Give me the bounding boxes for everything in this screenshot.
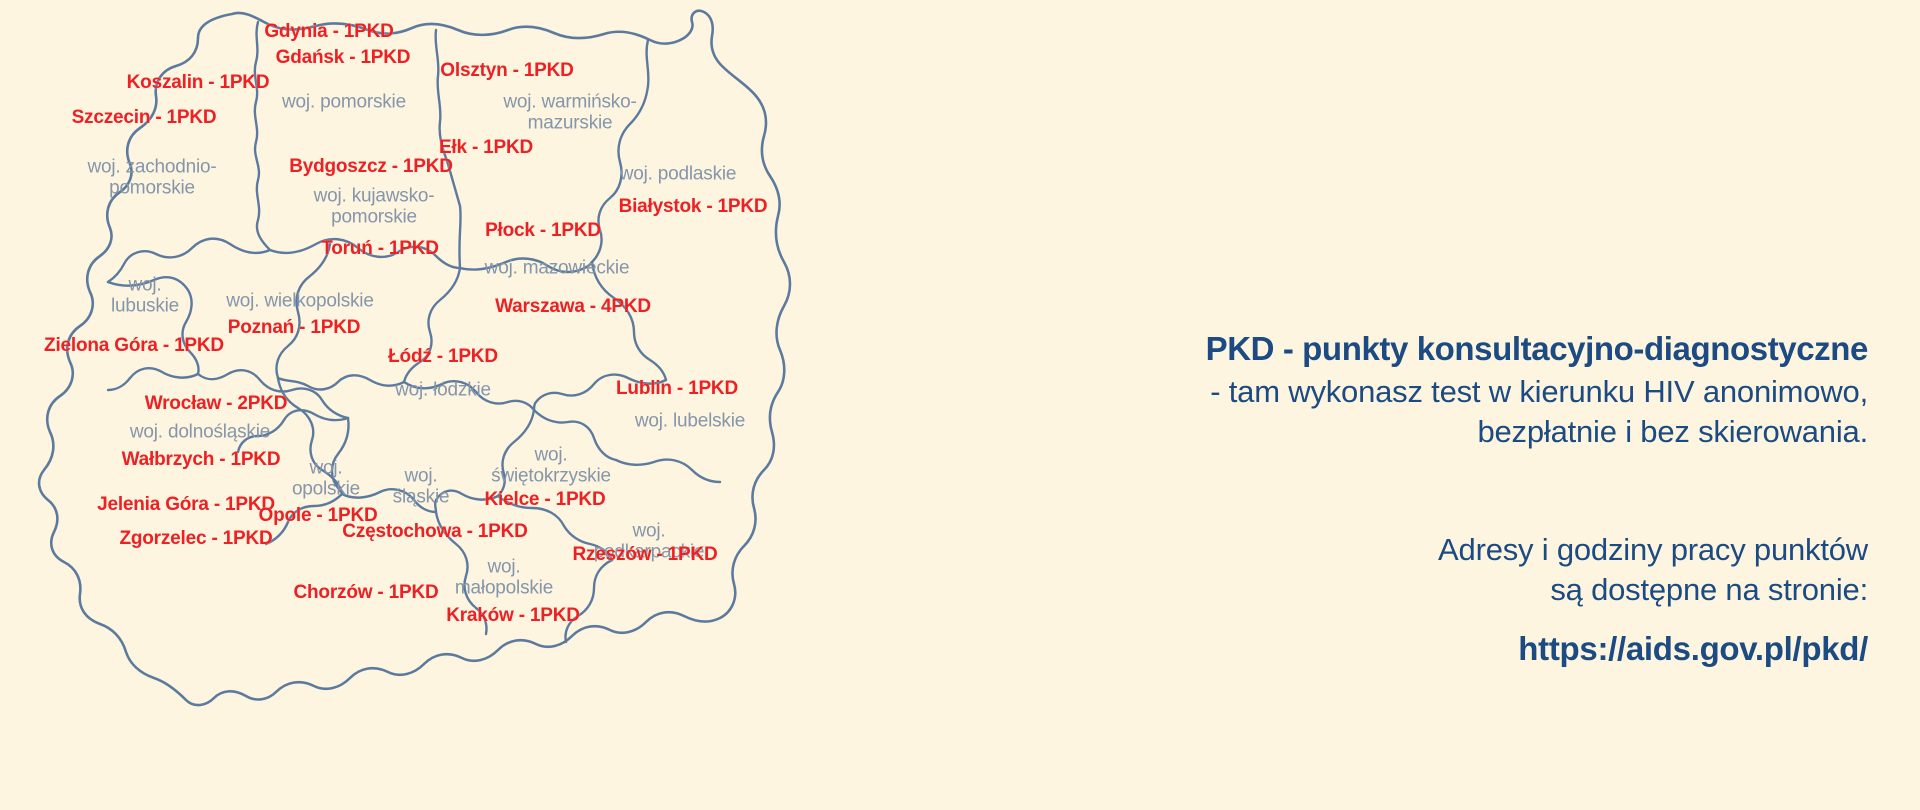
poster-canvas: woj. zachodnio-pomorskiewoj. pomorskiewo… <box>0 0 1920 810</box>
border-lubelskie-podkarpackie <box>616 460 720 482</box>
border-warminsko-podlaskie <box>592 40 648 262</box>
border-pomorskie-south <box>270 239 460 268</box>
border-opolskie-south <box>266 494 342 544</box>
website-url-link[interactable]: https://aids.gov.pl/pkd/ <box>1518 630 1868 668</box>
border-kujawsko-mazowieckie <box>404 268 460 382</box>
border-slaskie-malopolskie <box>436 512 487 634</box>
border-mazowieckie-lubelskie <box>534 375 666 410</box>
border-warminsko-mazowieckie <box>460 259 592 272</box>
border-zachodniopomorskie-pomorskie <box>255 22 270 250</box>
subtitle-block: - tam wykonasz test w kierunku HIV anoni… <box>1210 372 1868 453</box>
border-lodzkie-mazowieckie <box>404 381 534 410</box>
address-info-block: Adresy i godziny pracy punktów są dostęp… <box>1438 530 1868 611</box>
border-swietokrzyskie-west <box>435 491 498 512</box>
border-lodzkie-swietokrzyskie <box>498 410 534 496</box>
poland-map-svg <box>0 0 1000 810</box>
poland-map: woj. zachodnio-pomorskiewoj. pomorskiewo… <box>0 0 1000 810</box>
border-wielkopolskie-south <box>198 370 348 418</box>
info-text-panel: PKD - punkty konsultacyjno-diagnostyczne… <box>1000 0 1920 810</box>
border-malopolskie-podkarpackie <box>566 560 613 642</box>
subtitle-line-1: - tam wykonasz test w kierunku HIV anoni… <box>1210 372 1868 412</box>
border-wielkopolskie-lubuskie <box>108 277 199 374</box>
address-line-2: są dostępne na stronie: <box>1438 570 1868 610</box>
border-podlaskie-mazowieckie <box>592 262 666 380</box>
border-opolskie-dolnoslaskie <box>238 410 348 452</box>
border-lubuskie-dolnoslaskie <box>108 368 198 390</box>
border-kujawsko-wielkopolskie <box>276 244 330 378</box>
border-zachodniopomorskie-south <box>108 239 270 282</box>
border-pomorskie-warminsko <box>436 30 461 268</box>
border-slaskie-opolskie <box>332 418 349 494</box>
subtitle-line-2: bezpłatnie i bez skierowania. <box>1210 412 1868 452</box>
border-swietokrzyskie-malopolskie <box>498 496 612 560</box>
border-lodzkie-south <box>342 489 436 512</box>
address-line-1: Adresy i godziny pracy punktów <box>1438 530 1868 570</box>
poland-outline <box>39 11 790 705</box>
border-swietokrzyskie-east <box>534 410 616 460</box>
border-kujawsko-lodzkie <box>278 375 404 389</box>
page-title: PKD - punkty konsultacyjno-diagnostyczne <box>1206 330 1868 368</box>
